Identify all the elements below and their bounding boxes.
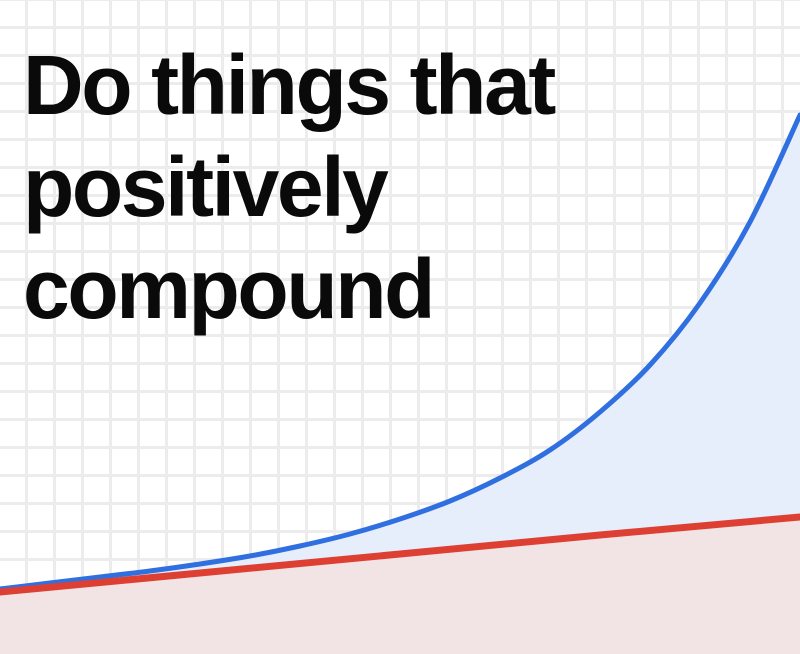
- page-title: Do things that positively compound: [23, 34, 554, 340]
- poster-canvas: Do things that positively compound: [0, 0, 800, 654]
